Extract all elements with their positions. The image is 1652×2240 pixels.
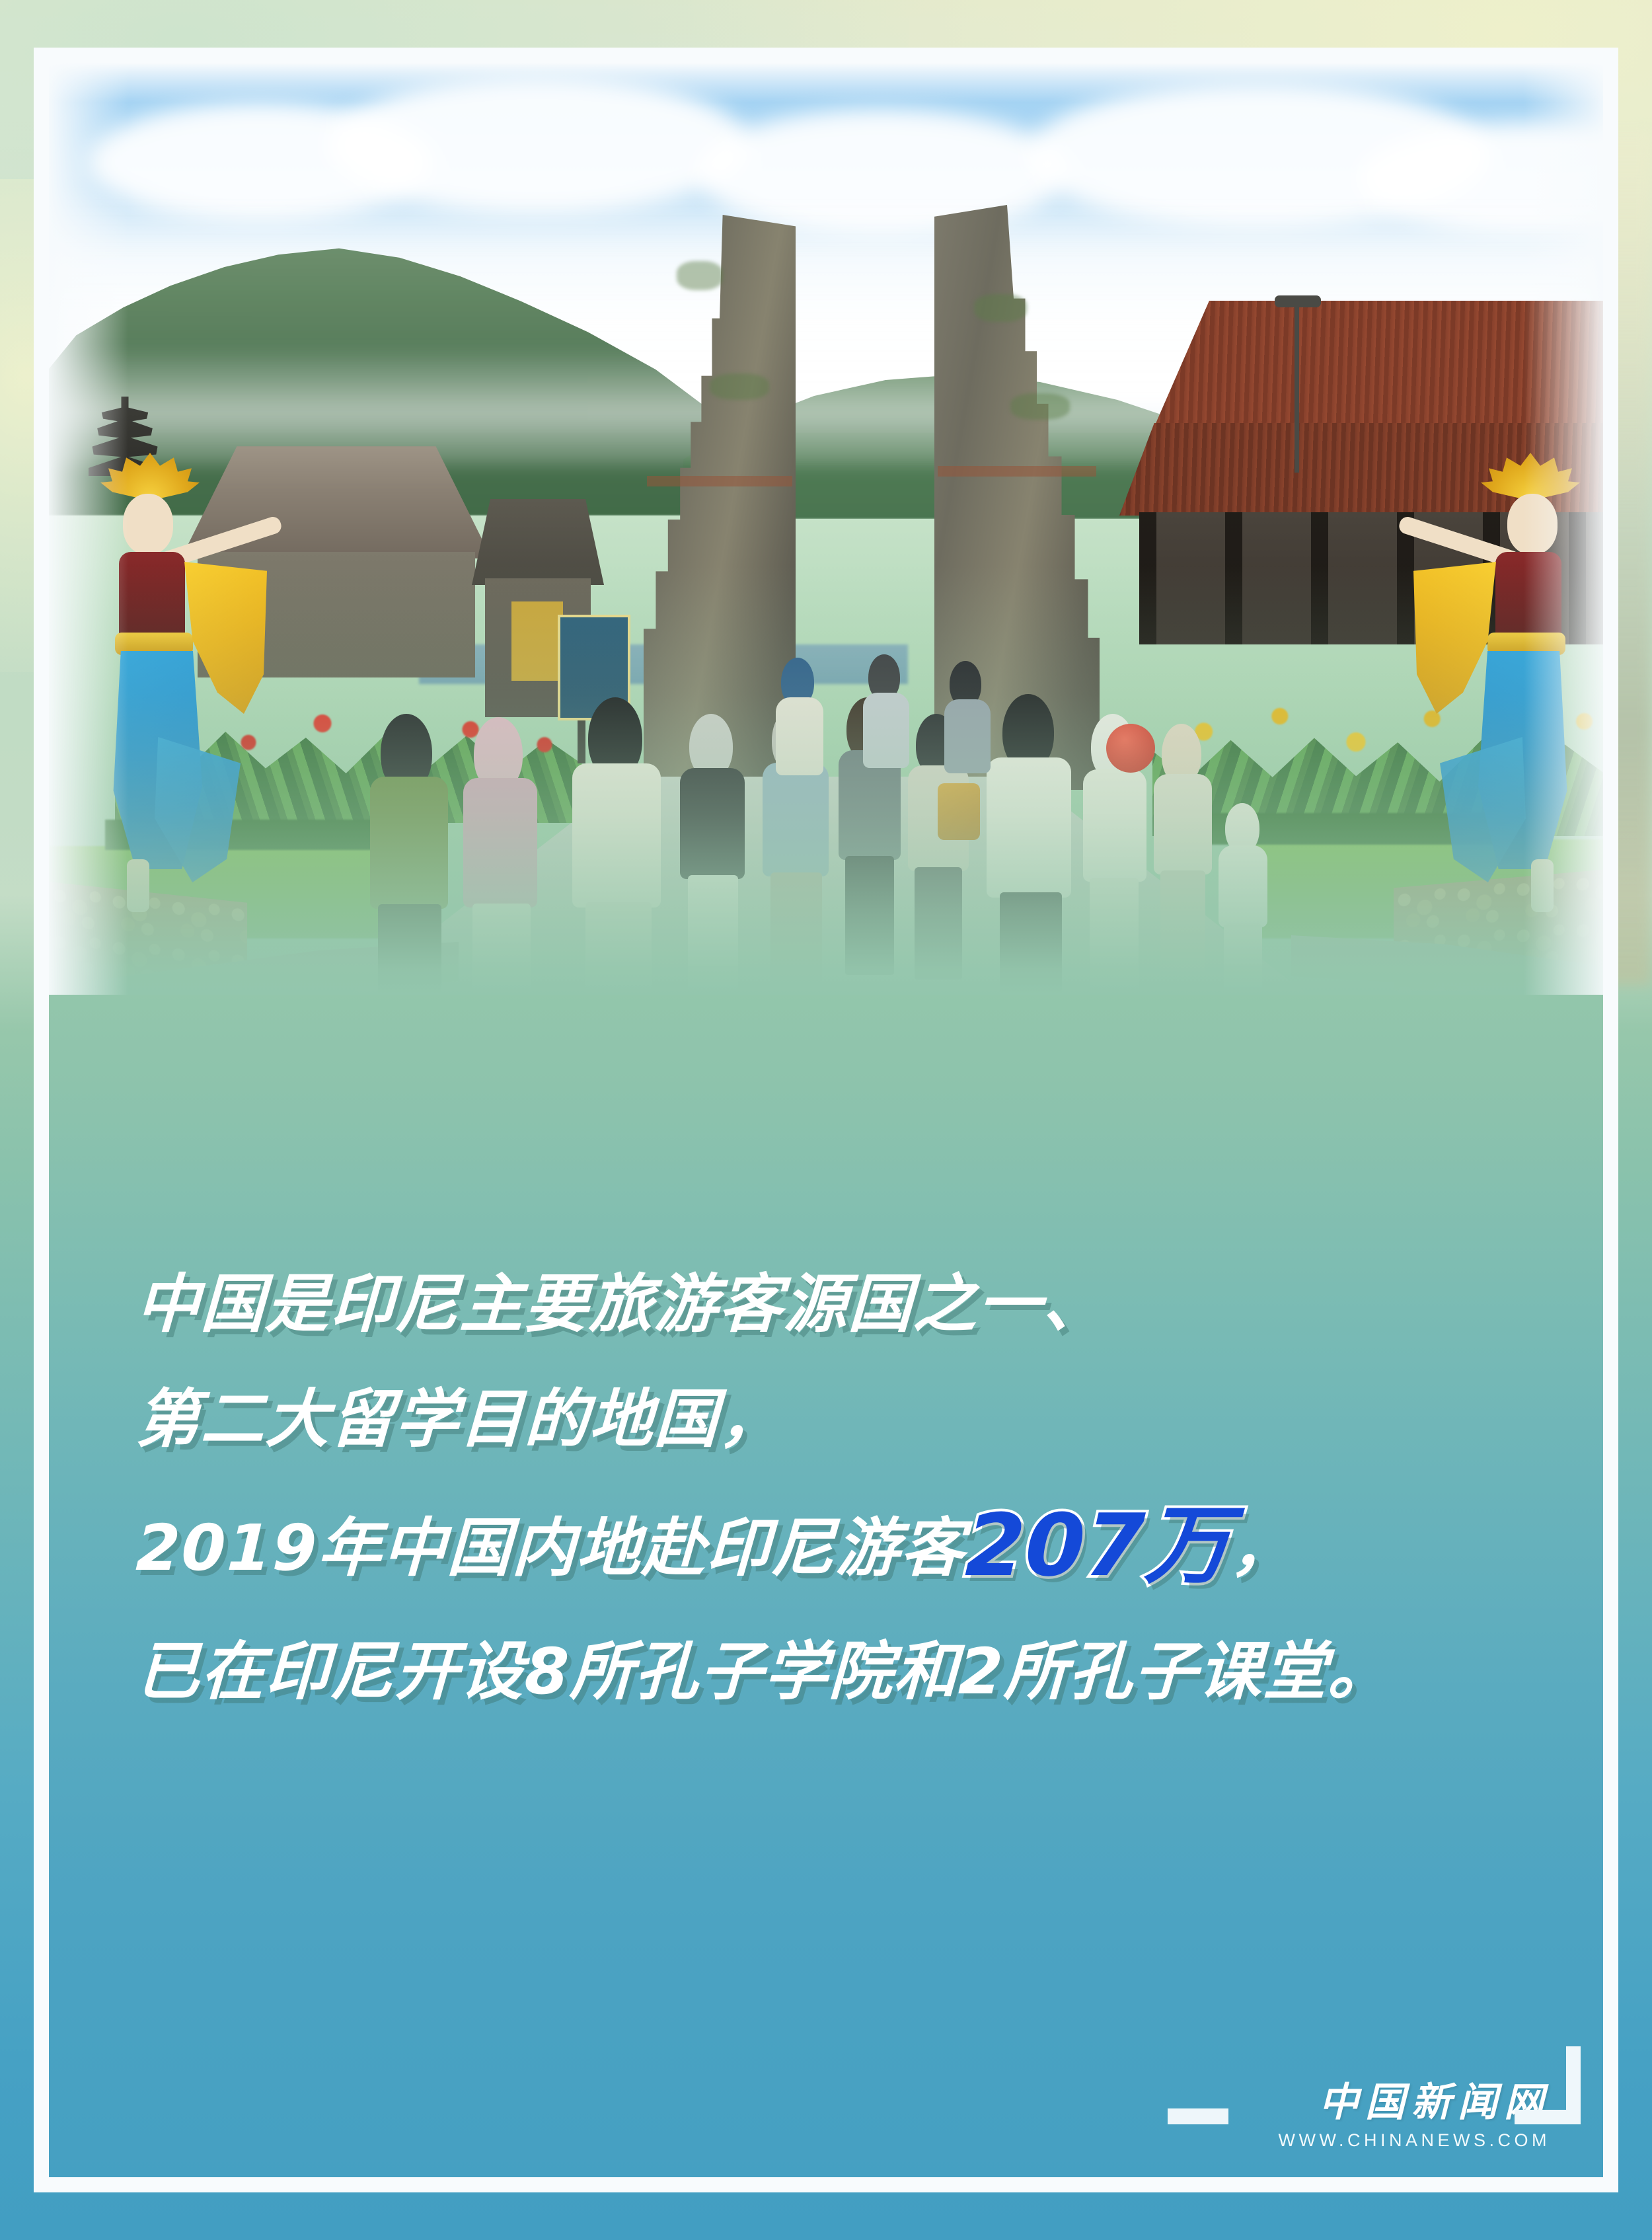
gate-band: [647, 476, 792, 486]
corner-bracket-right-horizontal: [1515, 2110, 1581, 2124]
copy-line-3-prefix: 2019年中国内地赴印尼游客: [135, 1511, 967, 1585]
brand-watermark: 中国新闻网 WWW.CHINANEWS.COM: [1279, 2082, 1550, 2151]
headline-copy-block: 中国是印尼主要旅游客源国之一、 第二大留学目的地国， 2019年中国内地赴印尼游…: [136, 1272, 1563, 1703]
copy-line-4: 已在印尼开设8所孔子学院和2所孔子课堂。: [135, 1640, 1564, 1703]
gate-band: [938, 466, 1096, 477]
photo-top-fade: [49, 63, 1603, 102]
poster-frame: 中国是印尼主要旅游客源国之一、 第二大留学目的地国， 2019年中国内地赴印尼游…: [34, 48, 1618, 2192]
statue-head: [123, 494, 173, 555]
corner-bracket-left: [1168, 2108, 1228, 2124]
gate-moss: [974, 294, 1027, 322]
chinanews-logo: 中国新闻网: [1279, 2082, 1550, 2124]
hero-photo: [49, 63, 1603, 995]
copy-line-3-suffix: ，: [1229, 1511, 1296, 1585]
gate-moss: [1010, 393, 1070, 420]
chinanews-url: WWW.CHINANEWS.COM: [1279, 2130, 1550, 2151]
gate-moss: [710, 373, 769, 400]
photo-left-fade: [49, 63, 128, 995]
copy-line-2: 第二大留学目的地国，: [135, 1387, 1564, 1451]
photo-right-fade: [1524, 63, 1603, 995]
gate-moss: [677, 261, 723, 290]
poster-canvas: 中国是印尼主要旅游客源国之一、 第二大留学目的地国， 2019年中国内地赴印尼游…: [49, 63, 1603, 2177]
tourist-count-highlight: 207万: [964, 1495, 1233, 1596]
photo-bottom-fade: [49, 565, 1603, 995]
street-lamp-post: [1295, 301, 1299, 473]
copy-line-3: 2019年中国内地赴印尼游客207万，: [135, 1502, 1565, 1588]
street-lamp-head: [1275, 295, 1321, 307]
copy-line-1: 中国是印尼主要旅游客源国之一、: [135, 1272, 1564, 1336]
